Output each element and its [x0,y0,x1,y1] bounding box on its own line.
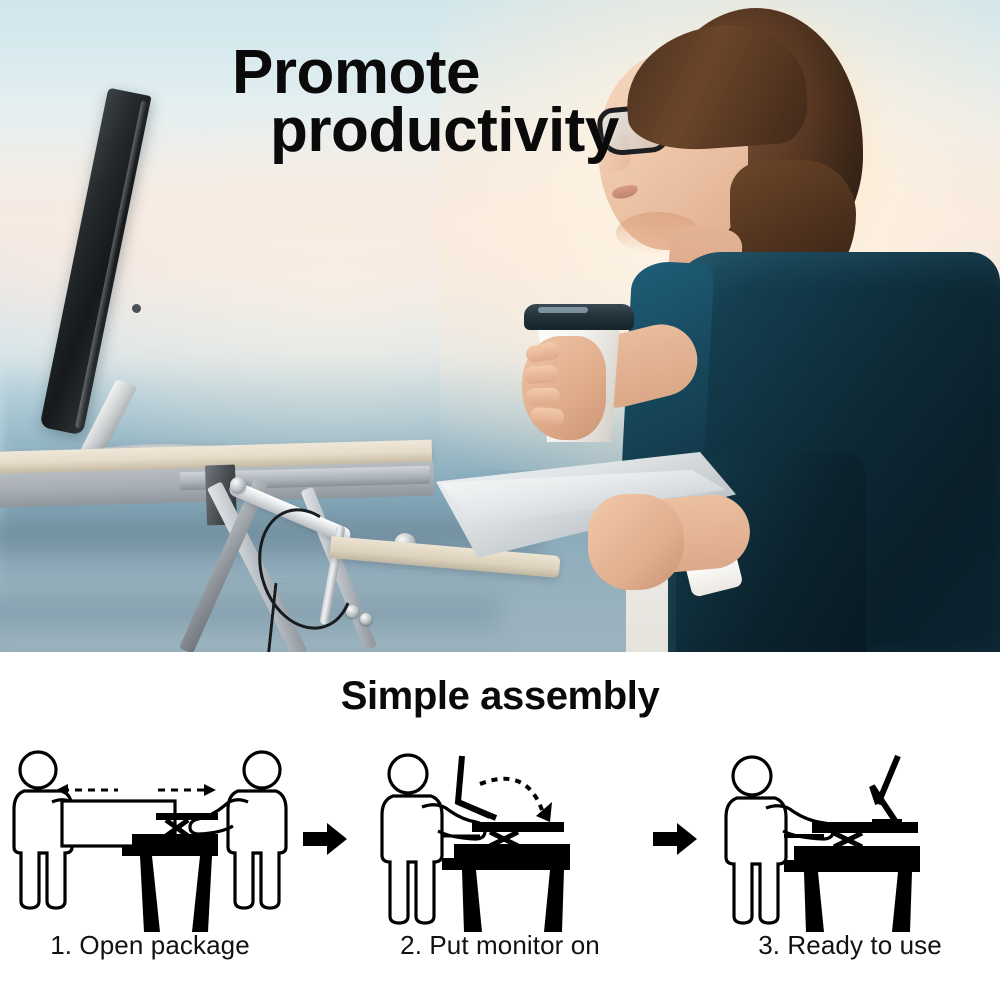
assembly-steps-row: 1. Open package [0,744,1000,1000]
step-3-illustration [700,744,1000,934]
assembly-step-1: 1. Open package [0,744,300,994]
arrow-right-separator-2 [650,744,700,934]
person-placing-monitor-icon [350,744,650,934]
headline-line-2: productivity [270,102,662,160]
step-2-illustration [350,744,650,934]
product-infographic-page: Promote productivity Simple assembly [0,0,1000,1000]
pivot-bolt-1 [230,477,246,493]
person-using-workstation-icon [700,744,1000,934]
two-people-lifting-box-icon [0,744,300,934]
finger-3 [526,387,561,405]
pivot-bolt-4 [360,613,372,625]
monitor-panel [39,88,151,436]
coffee-cup-lid-highlight [538,307,588,313]
arrow-right-icon [653,822,697,856]
step-1-illustration [0,744,300,934]
step-3-label: 3. Ready to use [700,930,1000,961]
step-2-label: 2. Put monitor on [350,930,650,961]
step-1-label: 1. Open package [0,930,300,961]
assembly-step-2: 2. Put monitor on [350,744,650,994]
assembly-heading: Simple assembly [0,674,1000,719]
hero-headline: Promote productivity [232,44,662,161]
assembly-section: Simple assembly [0,652,1000,1000]
monitor-power-button-icon [131,303,142,314]
hand-holding-tablet [588,494,684,590]
assembly-step-3: 3. Ready to use [700,744,1000,994]
hero-lifestyle-photo: Promote productivity [0,0,1000,652]
arrow-right-icon [303,822,347,856]
finger-4 [529,407,564,426]
arrow-right-separator-1 [300,744,350,934]
